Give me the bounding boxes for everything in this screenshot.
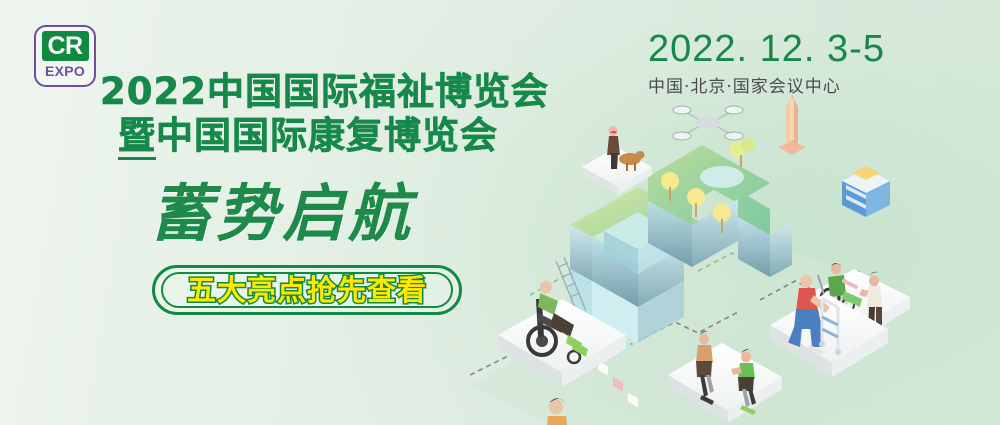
event-title-line-2-prefix: 暨: [118, 114, 156, 160]
logo-word-text: EXPO: [45, 63, 85, 79]
expo-banner: CR EXPO 2022中国国际福祉博览会 暨中国国际康复博览会 蓄势启航 五大…: [0, 0, 1000, 425]
highlights-cta-label: 五大亮点抢先查看: [187, 273, 427, 307]
isometric-scene-illustration: [470, 85, 1000, 425]
logo-mark-text: CR: [42, 31, 89, 61]
event-date: 2022. 12. 3-5: [648, 26, 948, 72]
cr-expo-logo[interactable]: CR EXPO: [34, 25, 96, 87]
delivery-drone: [673, 106, 743, 140]
headline-slogan: 蓄势启航: [150, 178, 414, 250]
stacked-boxes-right: [842, 166, 890, 217]
event-title-line-2-rest: 中国国际康复博览会: [156, 114, 498, 157]
highlights-cta-inner-border: 五大亮点抢先查看: [161, 272, 453, 308]
guide-dog-platform: [582, 126, 652, 195]
monument-tower: [778, 95, 806, 155]
highlights-cta-button[interactable]: 五大亮点抢先查看: [152, 265, 462, 315]
